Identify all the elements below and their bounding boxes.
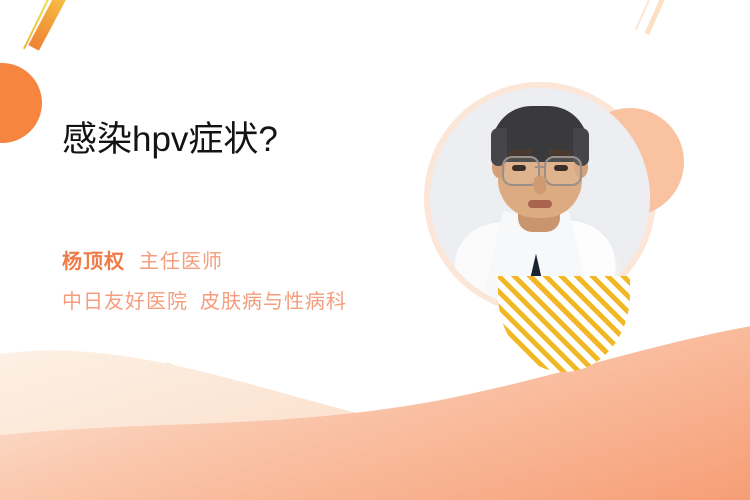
portrait-glasses-left <box>502 156 540 186</box>
doctor-photo <box>430 88 650 308</box>
portrait-eye-right <box>554 165 568 171</box>
portrait-eye-left <box>512 165 526 171</box>
portrait-pen-blue <box>555 300 563 308</box>
portrait-neck <box>518 192 560 232</box>
portrait-brow-left <box>508 149 532 156</box>
pale-thin-stroke-decoration <box>635 0 656 30</box>
portrait-hair <box>492 106 588 162</box>
portrait-ear-right <box>574 156 588 178</box>
portrait-mouth <box>528 200 552 208</box>
doctor-identity-line: 杨顶权主任医师 <box>62 248 223 276</box>
portrait-coat <box>452 216 628 308</box>
portrait-hair-right <box>573 128 589 166</box>
orange-diagonal-stroke-decoration <box>28 0 71 51</box>
portrait-ear-left <box>492 156 506 178</box>
doctor-hospital: 中日友好医院 <box>62 291 188 313</box>
portrait-pocket <box>548 294 588 296</box>
portrait-pen-cyan <box>565 298 572 308</box>
portrait-head <box>498 114 582 218</box>
striped-blob-decoration <box>498 276 630 372</box>
photo-ring-decoration <box>424 82 656 314</box>
wave-front-decoration <box>0 310 750 500</box>
yellow-thin-stroke-decoration <box>23 0 53 49</box>
doctor-qa-cover-card: 感染hpv症状? 杨顶权主任医师 中日友好医院皮肤病与性病科 <box>0 0 750 500</box>
portrait-nose <box>534 176 546 194</box>
doctor-affiliation-line: 中日友好医院皮肤病与性病科 <box>62 288 347 316</box>
wave-back-decoration <box>0 300 750 500</box>
portrait-coat-right <box>533 218 620 308</box>
portrait-brow-right <box>548 149 572 156</box>
portrait-shirt <box>506 210 570 308</box>
doctor-department: 皮肤病与性病科 <box>200 291 347 313</box>
peach-circle-decoration <box>576 108 684 216</box>
portrait-collar-left <box>482 210 544 308</box>
pale-diagonal-stroke-decoration <box>645 0 671 35</box>
portrait-glasses-right <box>544 156 582 186</box>
portrait-coat-left <box>450 221 533 308</box>
portrait-hair-left <box>491 128 507 166</box>
orange-circle-decoration <box>0 63 42 143</box>
outlined-stroke-decoration <box>150 362 175 406</box>
page-title: 感染hpv症状? <box>62 116 278 164</box>
doctor-professional-title: 主任医师 <box>139 251 223 273</box>
portrait-collar-right <box>528 210 590 308</box>
doctor-name: 杨顶权 <box>62 251 125 273</box>
portrait-glasses-bridge <box>535 166 546 168</box>
